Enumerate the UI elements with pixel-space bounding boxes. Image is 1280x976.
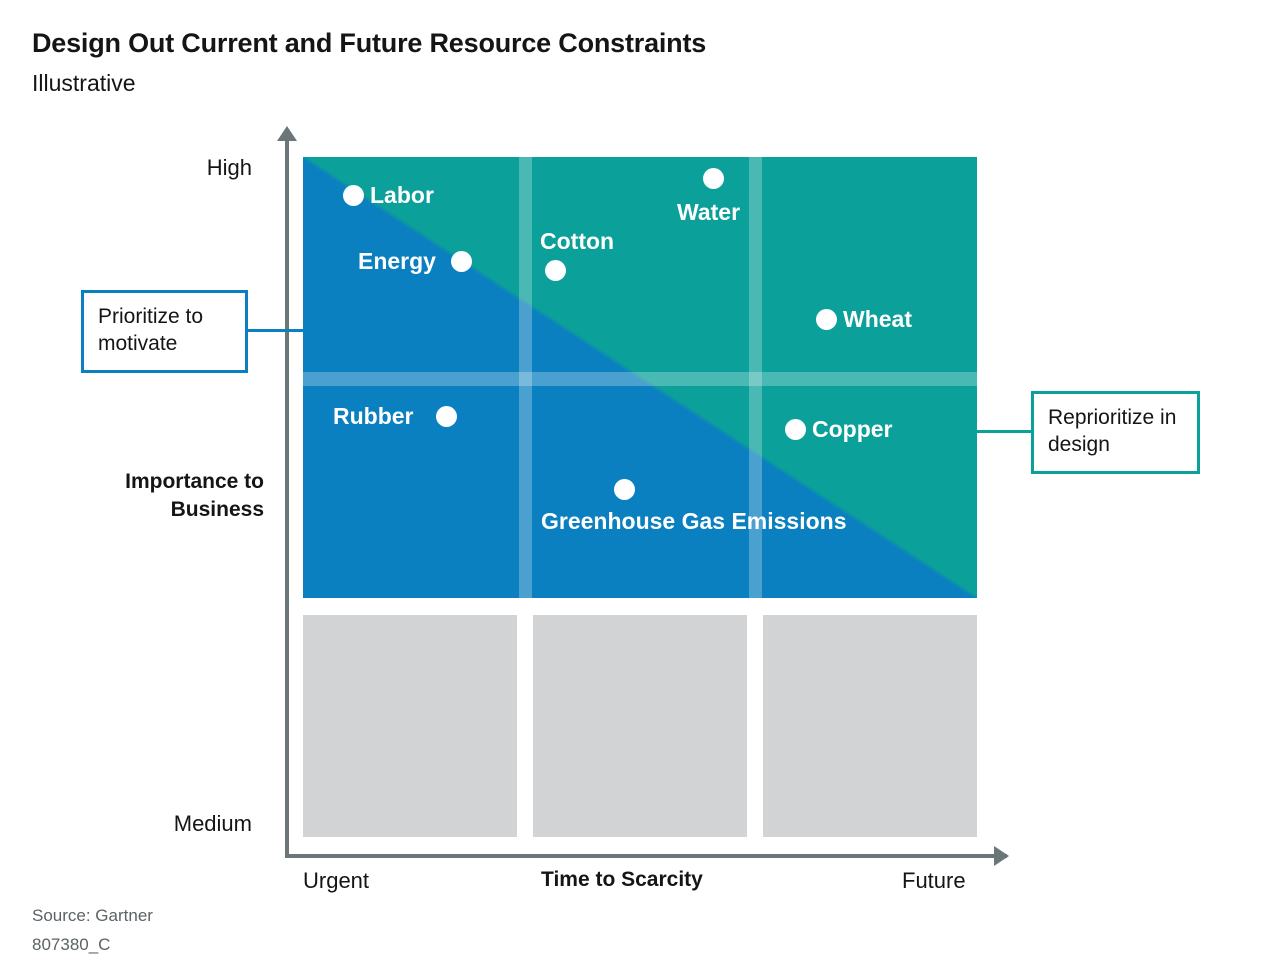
data-point-label: Copper — [812, 415, 893, 444]
callout-prioritize-to-motivate: Prioritize to motivate — [81, 290, 248, 373]
y-axis-line — [285, 138, 289, 858]
data-point-label: Greenhouse Gas Emissions — [541, 507, 721, 536]
x-axis-label-urgent: Urgent — [303, 868, 369, 894]
y-axis-label-high: High — [207, 155, 252, 181]
inactive-row — [303, 615, 977, 837]
document-id: 807380_C — [32, 935, 110, 955]
inactive-cell-3 — [763, 615, 977, 837]
data-point-label: Water — [677, 198, 740, 227]
x-axis-arrow-icon — [994, 846, 1009, 866]
page-subtitle: Illustrative — [32, 70, 136, 97]
marker-dot-icon — [614, 479, 635, 500]
matrix-row-gap-1 — [303, 372, 977, 386]
marker-dot-icon — [545, 260, 566, 281]
data-point-label: Energy — [358, 247, 436, 276]
marker-dot-icon — [703, 168, 724, 189]
inactive-cell-1 — [303, 615, 517, 837]
x-axis-title: Time to Scarcity — [541, 868, 703, 892]
page-title: Design Out Current and Future Resource C… — [32, 28, 706, 59]
y-axis-arrow-icon — [277, 126, 297, 141]
marker-dot-icon — [343, 185, 364, 206]
marker-dot-icon — [785, 419, 806, 440]
matrix-plot-area: Labor Energy Cotton Water Wheat Rubber G… — [303, 157, 977, 837]
priority-matrix: Labor Energy Cotton Water Wheat Rubber G… — [303, 157, 977, 598]
callout-leader-line-left — [248, 329, 304, 332]
data-point-label: Labor — [370, 181, 434, 210]
marker-dot-icon — [451, 251, 472, 272]
y-axis-label-medium: Medium — [174, 811, 252, 837]
marker-dot-icon — [816, 309, 837, 330]
marker-dot-icon — [436, 406, 457, 427]
source-note: Source: Gartner — [32, 906, 153, 926]
y-axis-title: Importance to Business — [32, 468, 264, 525]
data-point-label: Rubber — [333, 402, 414, 431]
callout-reprioritize-in-design: Reprioritize in design — [1031, 391, 1200, 474]
inactive-cell-2 — [533, 615, 747, 837]
x-axis-line — [285, 854, 1007, 858]
data-point-label: Cotton — [540, 227, 614, 256]
callout-leader-line-right — [977, 430, 1032, 433]
data-point-label: Wheat — [843, 305, 912, 334]
x-axis-label-future: Future — [902, 868, 966, 894]
